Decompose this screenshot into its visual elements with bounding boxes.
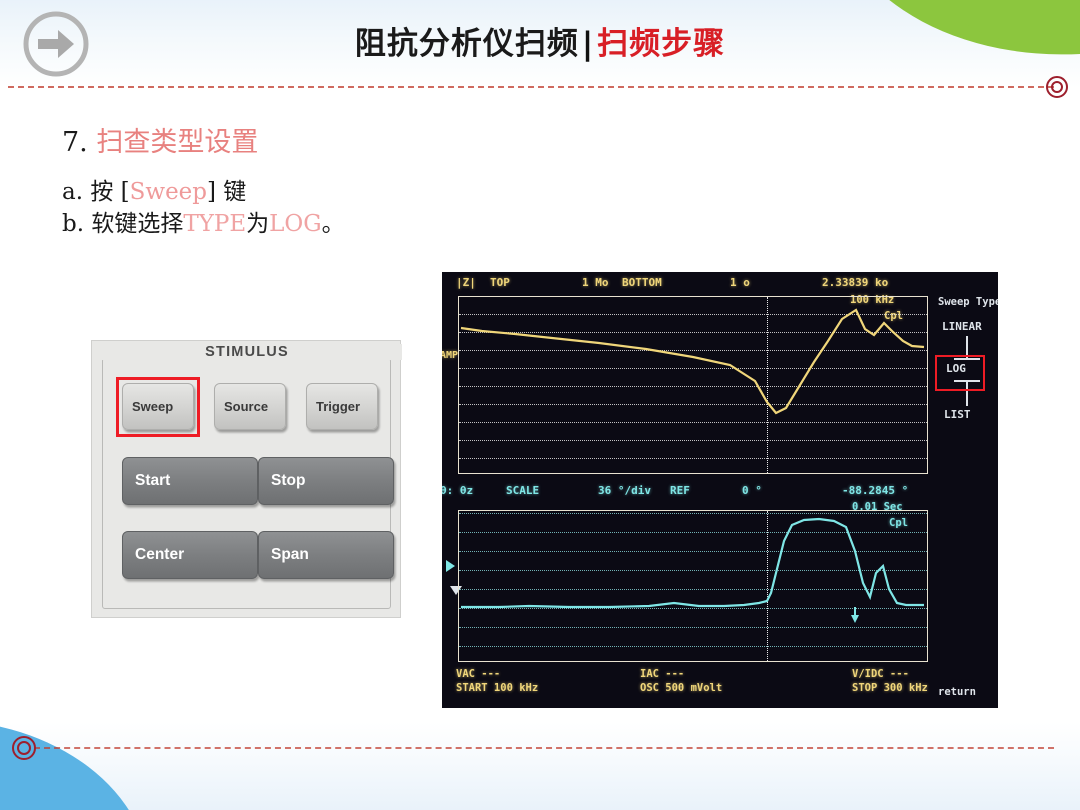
bottom-plot-trace-label: θ: θz: [442, 484, 473, 497]
top-plot-marker-value: 2.33839 ko: [822, 276, 888, 289]
step-a-key: Sweep: [130, 179, 207, 205]
top-plot-bottom-label: BOTTOM: [622, 276, 662, 289]
ring-decoration-top-right-inner: [1051, 81, 1063, 93]
impedance-magnitude-plot: [458, 296, 928, 474]
step-a-prefix: a. 按 [: [62, 179, 130, 205]
page-header: 阻抗分析仪扫频|扫频步骤: [0, 0, 1080, 88]
bottom-plot-scale-value: 36 °/div: [598, 484, 651, 497]
softkey-list[interactable]: LIST: [944, 408, 971, 421]
key-stop-label: Stop: [271, 472, 305, 490]
step-heading: 7. 扫查类型设置: [62, 120, 258, 159]
footer-divider: [34, 747, 1054, 749]
top-plot-top-label: TOP: [490, 276, 510, 289]
step-number: 7.: [62, 127, 88, 158]
key-source[interactable]: Source: [214, 383, 286, 430]
key-source-label: Source: [224, 399, 268, 414]
key-trigger-label: Trigger: [316, 399, 360, 414]
phase-plot: [458, 510, 928, 662]
step-b-emphasis-type: TYPE: [183, 211, 246, 237]
top-plot-amp-marker-label: AMP: [442, 350, 458, 361]
page-footer: [0, 722, 1080, 810]
log-softkey-highlight-box: [935, 355, 985, 391]
key-center[interactable]: Center: [122, 531, 258, 579]
key-sweep-label: Sweep: [132, 399, 173, 414]
status-start-frequency: START 100 kHz: [456, 682, 538, 694]
key-stop[interactable]: Stop: [258, 457, 394, 505]
bottom-plot-marker-value: -88.2845 °: [842, 484, 908, 497]
key-start[interactable]: Start: [122, 457, 258, 505]
softkey-menu-title: Sweep Type: [938, 296, 998, 308]
top-plot-top-value: 1 Mo: [582, 276, 609, 289]
step-b-suffix: 。: [322, 211, 345, 237]
bottom-plot-scale-label: SCALE: [506, 484, 539, 497]
status-oscillator-level: OSC 500 mVolt: [640, 682, 722, 694]
top-plot-trace-label: |Z|: [456, 276, 476, 289]
softkey-return[interactable]: return: [938, 686, 976, 698]
status-vac: VAC ---: [456, 668, 500, 680]
phase-trace: [459, 511, 926, 660]
header-divider: [8, 86, 1054, 88]
instrument-screen-image: |Z| TOP 1 Mo BOTTOM 1 o 2.33839 ko 100 k…: [442, 272, 998, 708]
bottom-plot-ref-label: REF: [670, 484, 690, 497]
phase-marker-triangle-icon: [446, 560, 455, 572]
step-line-a: a. 按 [Sweep] 键: [62, 172, 246, 206]
stimulus-panel-label-text: STIMULUS: [197, 344, 297, 360]
step-heading-text: 扫查类型设置: [96, 127, 258, 158]
step-b-prefix: b. 软键选择: [62, 211, 183, 237]
stimulus-keypad-image: STIMULUS Sweep Source Trigger Start Stop…: [91, 340, 401, 618]
step-b-mid: 为: [246, 211, 269, 237]
page-title-accent: 扫频步骤: [597, 26, 725, 62]
status-stop-frequency: STOP 300 kHz: [852, 682, 928, 694]
status-iac: IAC ---: [640, 668, 684, 680]
key-span-label: Span: [271, 546, 309, 564]
top-plot-bottom-value: 1 o: [730, 276, 750, 289]
key-start-label: Start: [135, 472, 170, 490]
key-sweep[interactable]: Sweep: [122, 383, 194, 430]
softkey-linear[interactable]: LINEAR: [942, 320, 982, 333]
page-title: 阻抗分析仪扫频|扫频步骤: [0, 18, 1080, 63]
impedance-trace: [459, 297, 926, 472]
page-title-separator: |: [582, 26, 594, 62]
key-center-label: Center: [135, 546, 184, 564]
key-trigger[interactable]: Trigger: [306, 383, 378, 430]
step-line-b: b. 软键选择TYPE为LOG。: [62, 204, 345, 238]
key-span[interactable]: Span: [258, 531, 394, 579]
step-a-suffix: ] 键: [207, 179, 246, 205]
step-b-emphasis-log: LOG: [269, 211, 322, 237]
page-title-main: 阻抗分析仪扫频: [355, 26, 579, 62]
status-vidc: V/IDC ---: [852, 668, 909, 680]
bottom-plot-ref-value: 0 °: [742, 484, 762, 497]
stimulus-panel-label: STIMULUS: [92, 344, 402, 360]
ring-decoration-bottom-left-inner: [17, 741, 31, 755]
